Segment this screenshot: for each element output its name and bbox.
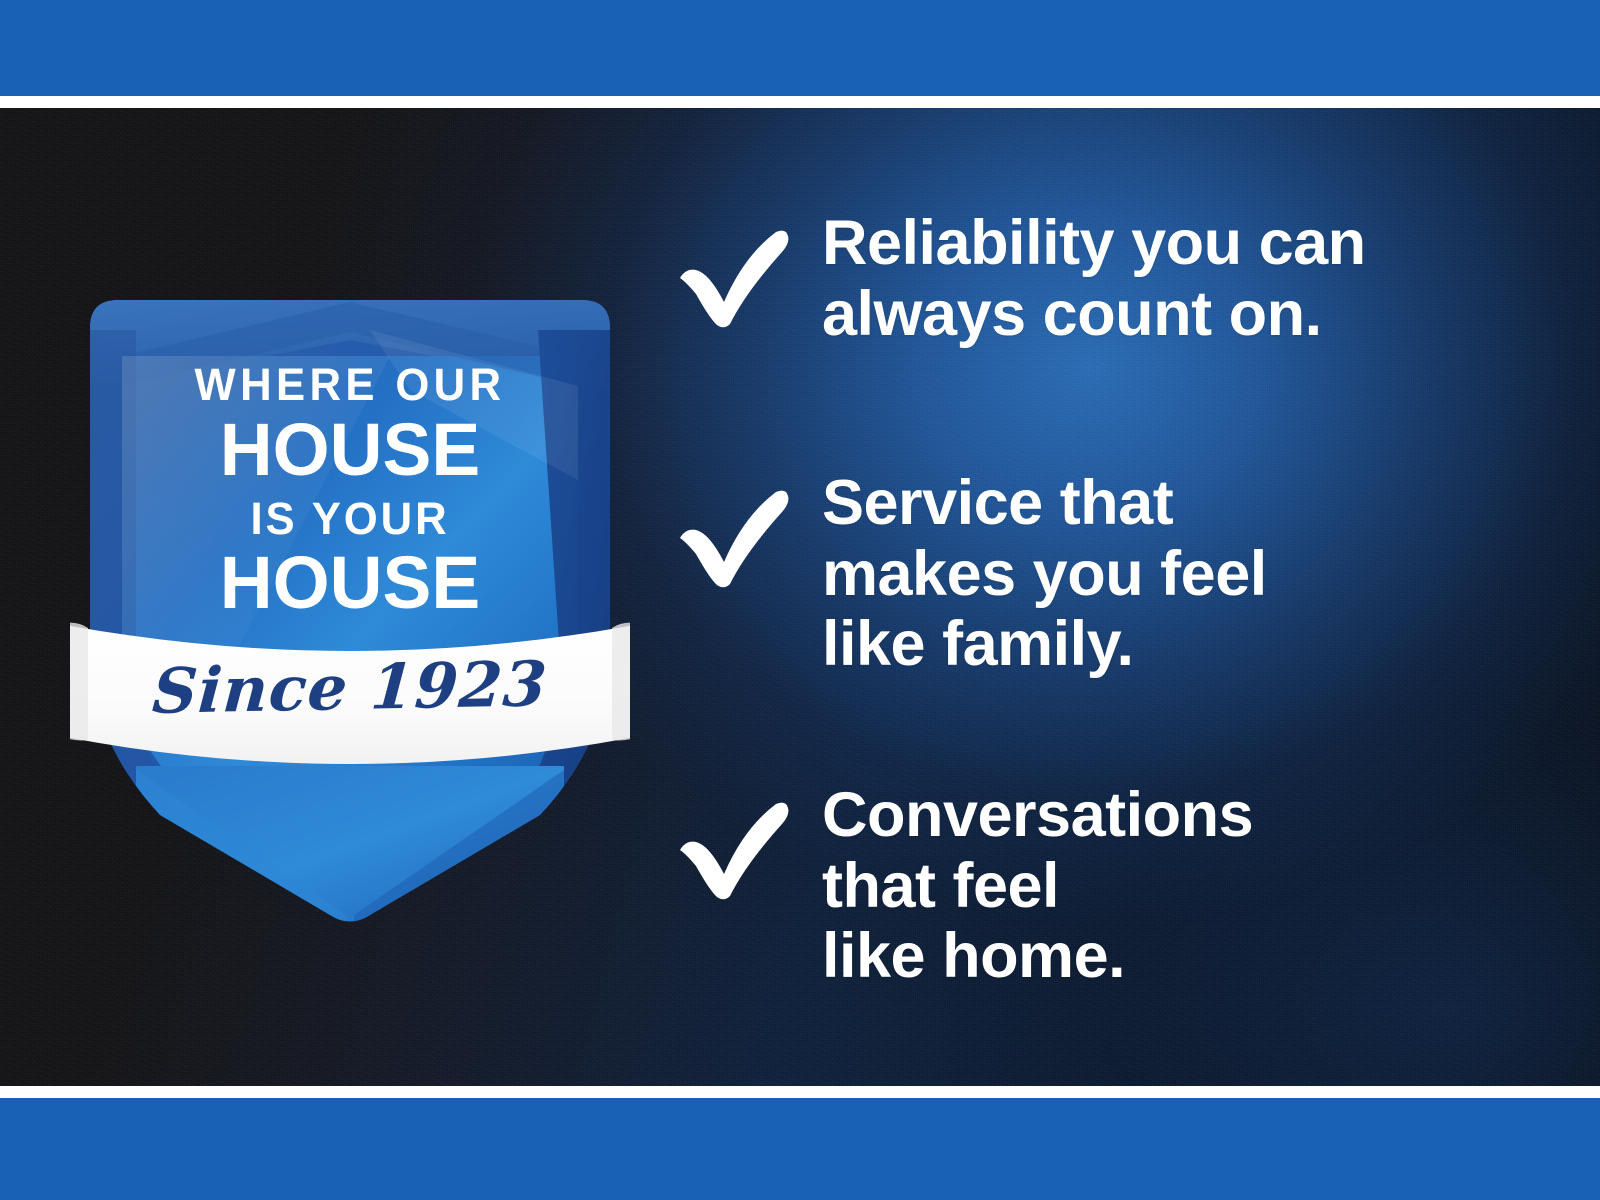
banner-right-fold	[612, 623, 630, 741]
benefit-item: Service that makes you feel like family.	[672, 468, 1267, 680]
shield-lower-face-fill	[136, 766, 564, 940]
shield-badge: WHERE OUR HOUSE IS YOUR HOUSE Since 1923	[70, 180, 630, 940]
checkmark-icon	[672, 780, 792, 907]
shield-graphic	[70, 180, 630, 940]
benefit-text: Reliability you can always count on.	[822, 208, 1366, 349]
promo-poster: WHERE OUR HOUSE IS YOUR HOUSE Since 1923…	[0, 0, 1600, 1200]
checkmark-icon	[672, 468, 792, 595]
top-brand-bar	[0, 0, 1600, 96]
benefit-item: Reliability you can always count on.	[672, 208, 1366, 349]
banner-left-fold	[70, 623, 88, 741]
checkmark-icon	[672, 208, 792, 335]
benefit-text: Service that makes you feel like family.	[822, 468, 1267, 680]
benefit-item: Conversations that feel like home.	[672, 780, 1253, 992]
bottom-brand-bar	[0, 1098, 1600, 1200]
benefit-text: Conversations that feel like home.	[822, 780, 1253, 992]
